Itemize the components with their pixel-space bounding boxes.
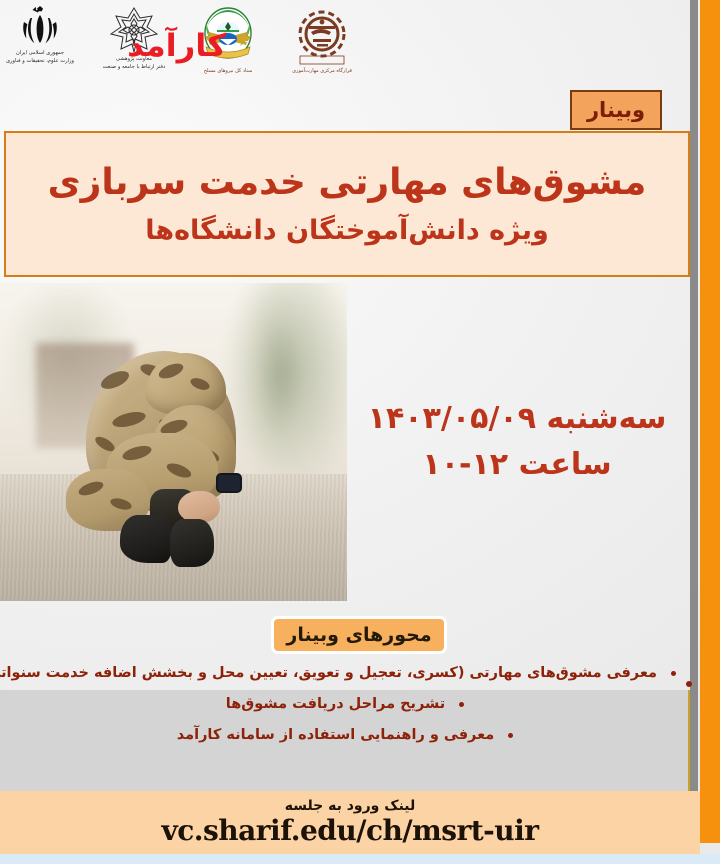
schedule-block: سه‌شنبه ۱۴۰۳/۰۵/۰۹ ساعت ۱۲-۱۰ bbox=[356, 378, 678, 506]
topics-heading-badge: محورهای وبینار bbox=[271, 616, 447, 654]
schedule-time: ساعت ۱۲-۱۰ bbox=[422, 447, 611, 483]
webinar-poster: جمهوری اسلامی ایران وزارت علوم، تحقیقات … bbox=[0, 0, 720, 864]
logo-caption-armed-forces: ستاد کل نیروهای مسلح bbox=[184, 68, 272, 75]
footer-label: لینک ورود به جلسه bbox=[285, 798, 416, 815]
logo-iran-emblem: جمهوری اسلامی ایران وزارت علوم، تحقیقات … bbox=[0, 6, 80, 96]
topic-item: تشریح مراحل دریافت مشوق‌ها bbox=[8, 695, 682, 714]
webinar-badge-label: وبینار bbox=[587, 100, 645, 121]
bullet-icon bbox=[508, 733, 513, 738]
logo-row: جمهوری اسلامی ایران وزارت علوم، تحقیقات … bbox=[0, 6, 692, 98]
schedule-date: سه‌شنبه ۱۴۰۳/۰۵/۰۹ bbox=[368, 401, 667, 437]
topic-item-label: معرفی مشوق‌های مهارتی (کسری، تعجیل و تعو… bbox=[0, 664, 657, 683]
bullet-icon bbox=[459, 702, 464, 707]
topics-list: معرفی مشوق‌های مهارتی (کسری، تعجیل و تعو… bbox=[0, 664, 690, 745]
bullet-icon bbox=[671, 671, 676, 676]
logo-caption-skill-hq: قرارگاه مرکزی مهارت‌آموزی bbox=[278, 68, 366, 75]
topic-item: معرفی و راهنمایی استفاده از سامانه کارآم… bbox=[8, 726, 682, 745]
logo-caption-iran: جمهوری اسلامی ایران وزارت علوم، تحقیقات … bbox=[0, 50, 84, 65]
footer-link-panel: لینک ورود به جلسه vc.sharif.edu/ch/msrt-… bbox=[0, 791, 700, 854]
logo-skill-hq: قرارگاه مرکزی مهارت‌آموزی bbox=[282, 6, 362, 96]
right-gray-bar bbox=[690, 0, 698, 864]
soldier-boot-left bbox=[120, 515, 172, 563]
topic-item-label: معرفی و راهنمایی استفاده از سامانه کارآم… bbox=[177, 726, 494, 745]
karamad-brand-text: کارآمد bbox=[127, 31, 226, 62]
photo-tree-right-2 bbox=[247, 293, 311, 458]
title-panel: مشوق‌های مهارتی خدمت سربازی ویژه دانش‌آم… bbox=[4, 131, 690, 277]
soldier-wristwatch bbox=[216, 473, 242, 493]
topic-item-label: تشریح مراحل دریافت مشوق‌ها bbox=[226, 695, 445, 714]
gear-skill-emblem-icon bbox=[291, 6, 353, 66]
right-orange-bar bbox=[700, 0, 720, 843]
meeting-url-link[interactable]: vc.sharif.edu/ch/msrt-uir bbox=[161, 815, 538, 847]
karamad-brand-logo: کارآمد bbox=[118, 24, 236, 68]
iran-emblem-icon bbox=[18, 6, 62, 48]
bottom-blue-strip bbox=[0, 854, 720, 864]
soldier-photo bbox=[0, 283, 347, 601]
soldier-boot-right bbox=[170, 519, 214, 567]
poster-title-secondary: ویژه دانش‌آموختگان دانشگاه‌ها bbox=[145, 215, 549, 246]
poster-title-primary: مشوق‌های مهارتی خدمت سربازی bbox=[48, 162, 647, 203]
topics-heading-label: محورهای وبینار bbox=[286, 626, 431, 645]
topic-item: معرفی مشوق‌های مهارتی (کسری، تعجیل و تعو… bbox=[8, 664, 682, 683]
webinar-badge: وبینار bbox=[570, 90, 662, 130]
